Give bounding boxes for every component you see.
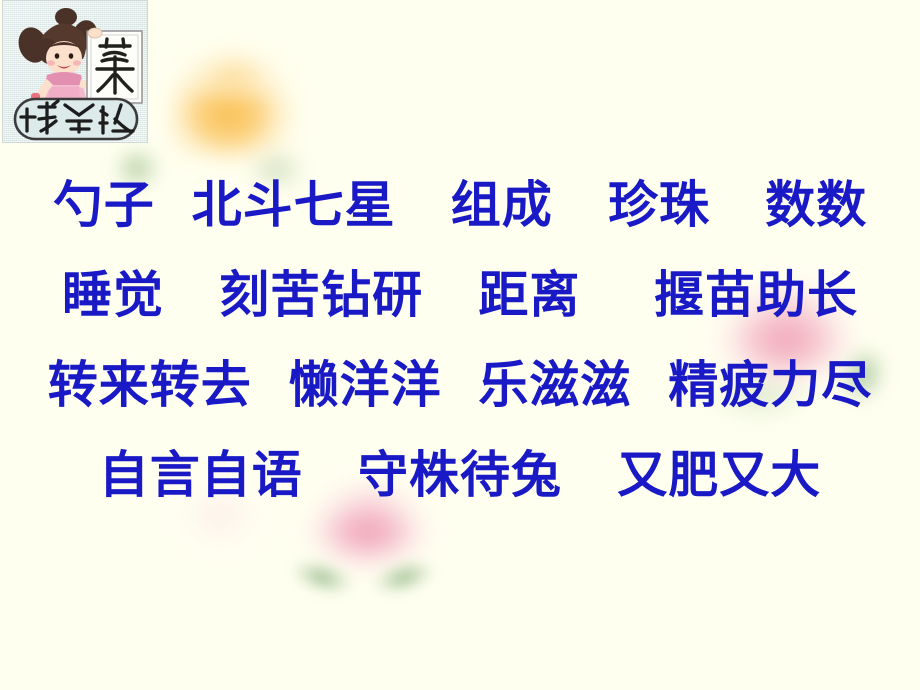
green-leaf-decoration-bottom-left — [285, 552, 358, 603]
green-leaf-decoration-bottom-right — [369, 552, 442, 603]
word-line-2: 睡觉 刻苦钻研 距离 揠苗助长 — [0, 250, 920, 340]
girl-with-sign-illustration — [3, 1, 148, 143]
vocabulary-word-list: 勺子 北斗七星 组成 珍珠 数数 睡觉 刻苦钻研 距离 揠苗助长 转来转去 懒洋… — [0, 160, 920, 520]
word-line-4: 自言自语 守株待兔 又肥又大 — [0, 430, 920, 520]
wo-hui-ren-badge-image — [2, 0, 148, 143]
word-line-1: 勺子 北斗七星 组成 珍珠 数数 — [0, 160, 920, 250]
slide-canvas: 勺子 北斗七星 组成 珍珠 数数 睡觉 刻苦钻研 距离 揠苗助长 转来转去 懒洋… — [0, 0, 920, 690]
yellow-flower-highlight — [186, 40, 282, 98]
yellow-flower-decoration — [168, 48, 300, 160]
word-line-3: 转来转去 懒洋洋 乐滋滋 精疲力尽 — [0, 340, 920, 430]
